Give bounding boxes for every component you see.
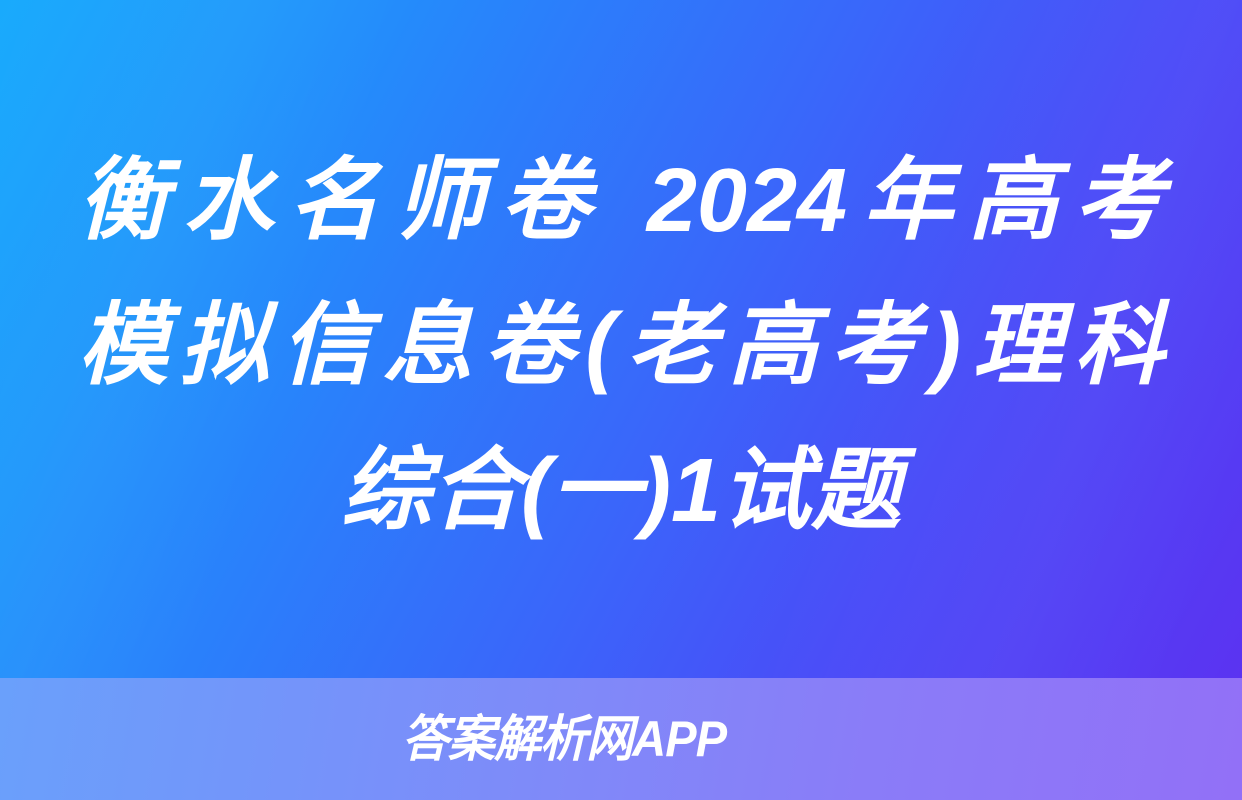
app-watermark-label: 答案解析网APP [402, 714, 726, 764]
title-block: 衡水名师卷 2024年高考 模拟信息卷(老高考)理科 综合(一)1试题 [0, 0, 1242, 678]
title-line-3: 综合(一)1试题 [78, 419, 1164, 564]
title-line-2: 模拟信息卷(老高考)理科 [78, 274, 1164, 419]
footer-watermark-band: 答案解析网APP [0, 678, 1242, 800]
title-line-1: 衡水名师卷 2024年高考 [78, 129, 1164, 274]
exam-paper-cover: 衡水名师卷 2024年高考 模拟信息卷(老高考)理科 综合(一)1试题 答案解析… [0, 0, 1242, 800]
